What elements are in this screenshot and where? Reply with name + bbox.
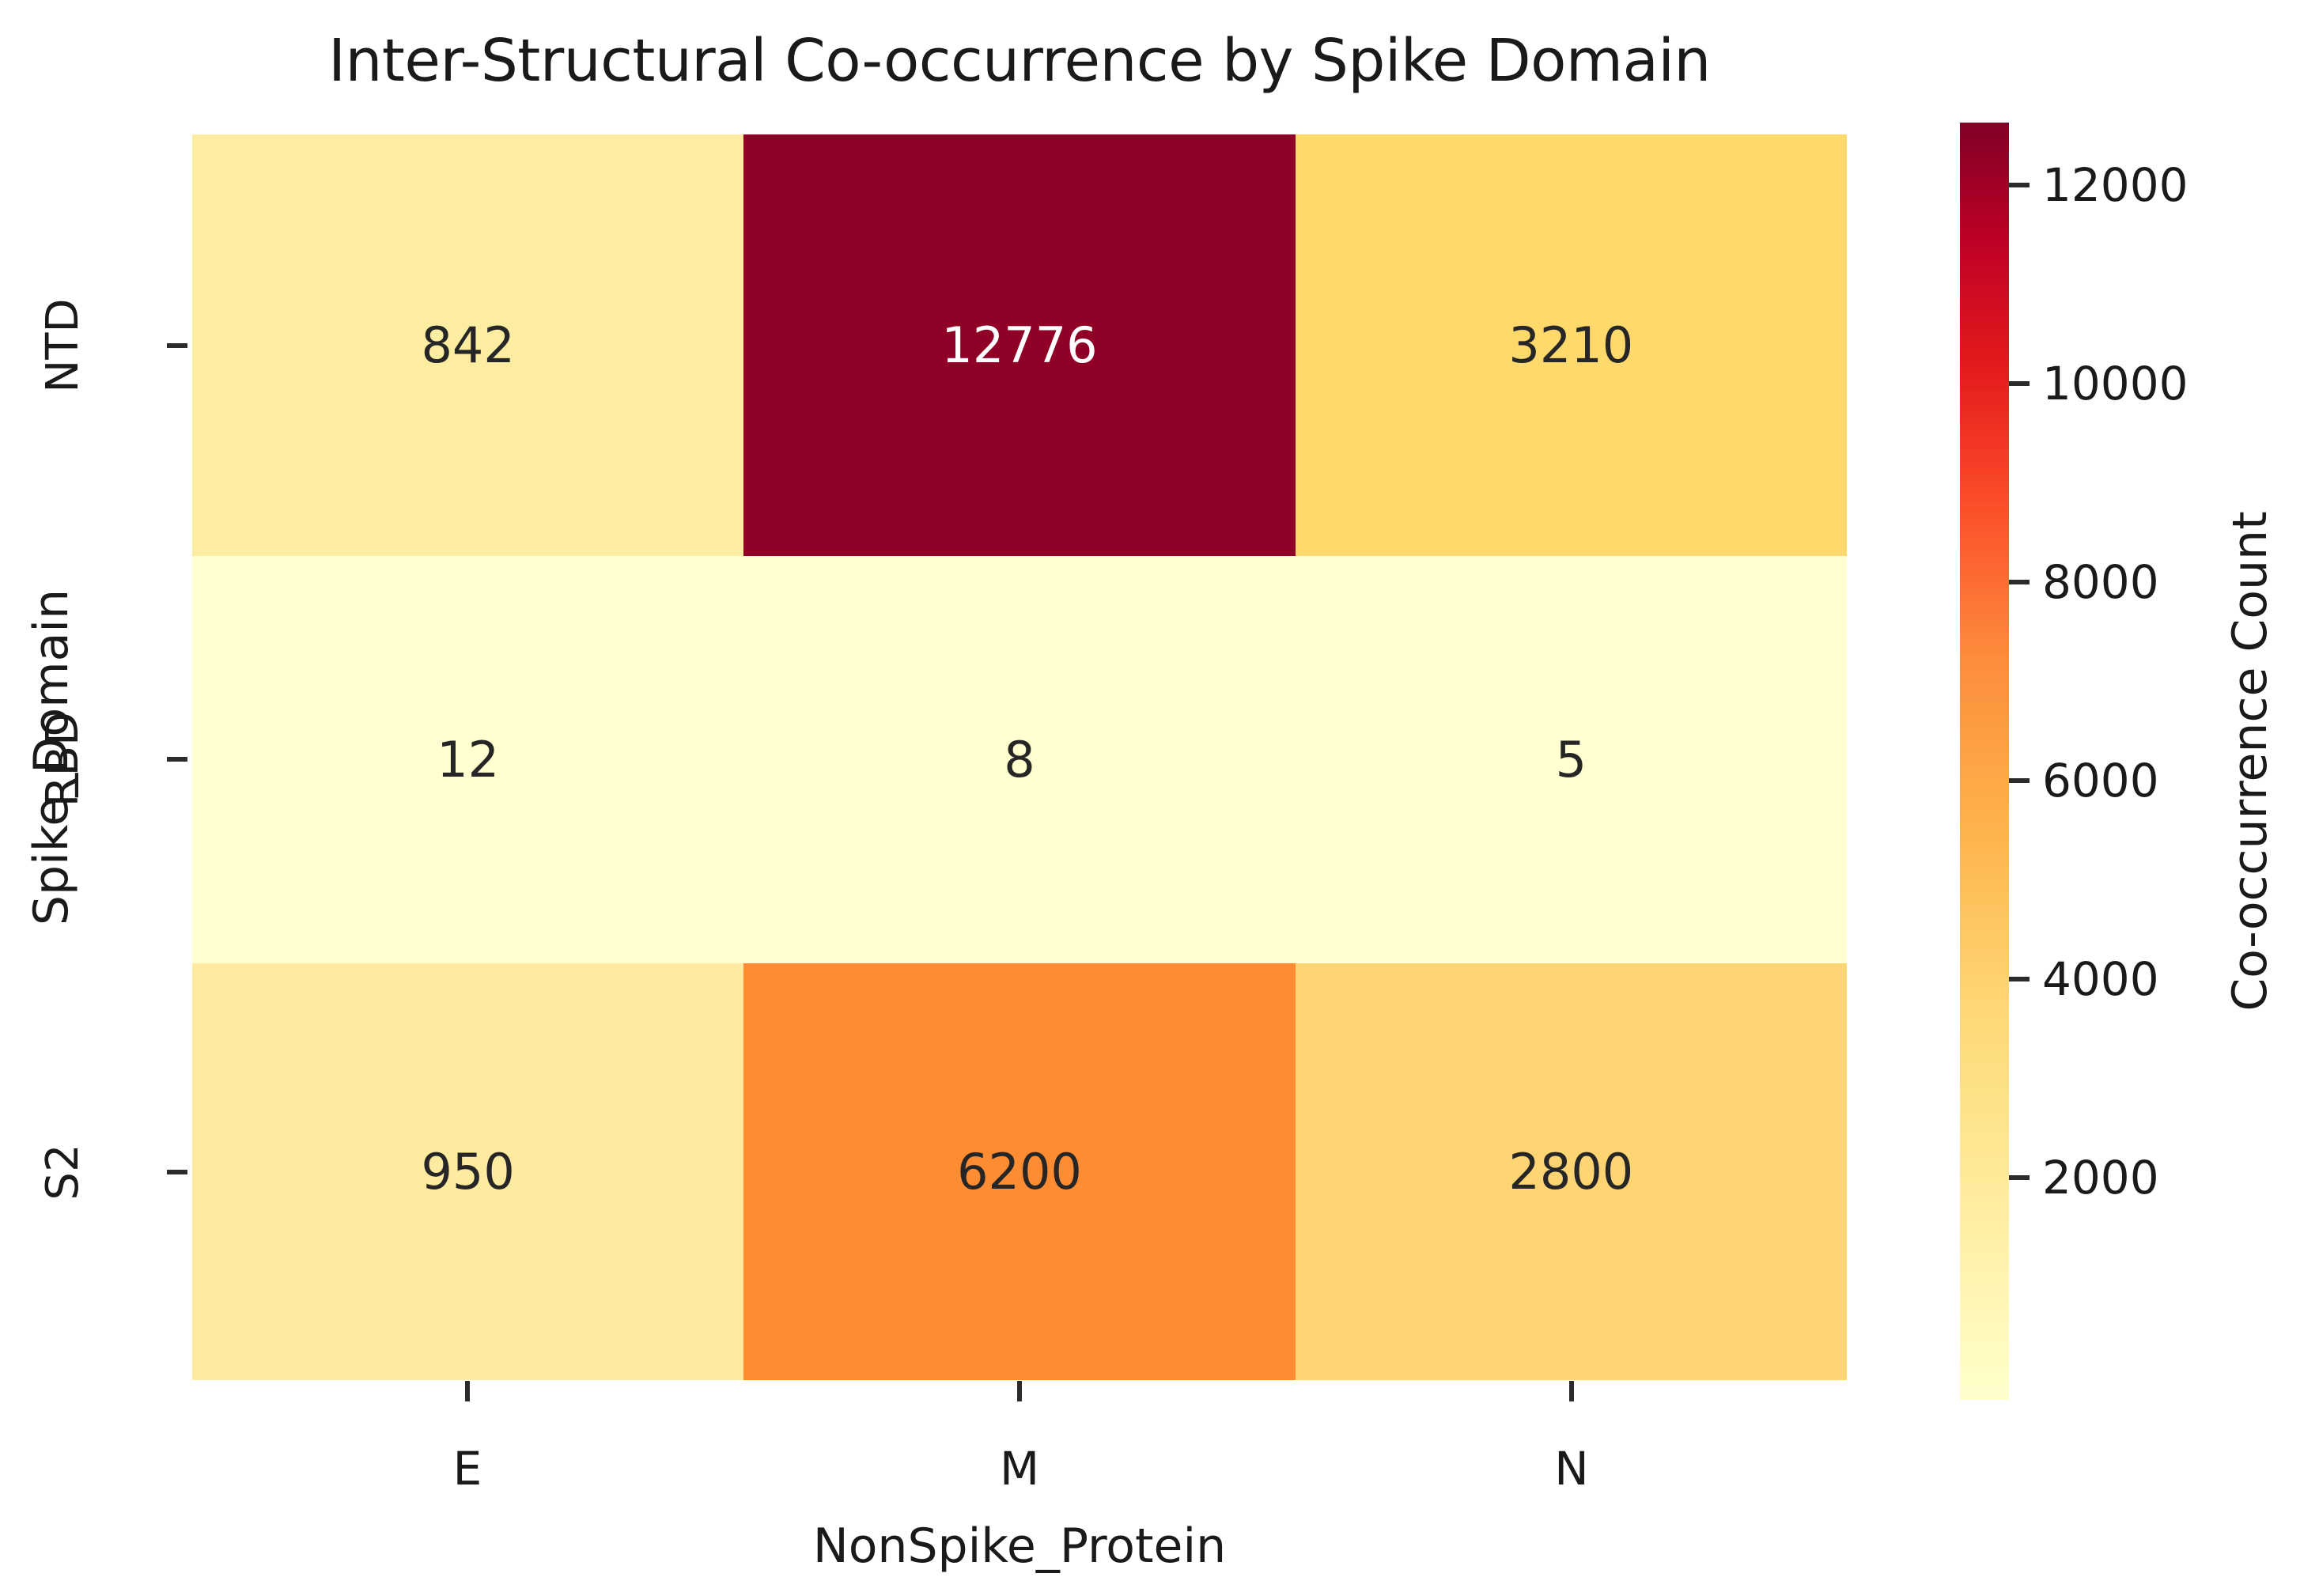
colorbar-tick-label-10000: 10000 (2042, 357, 2188, 410)
x-tick-mark-n (1569, 1381, 1574, 1401)
colorbar-tick-label-4000: 4000 (2042, 952, 2159, 1006)
cell-value: 8 (1004, 736, 1035, 785)
heatmap-cell-rbd-n[interactable]: 5 (1296, 556, 1847, 963)
heatmap-cell-ntd-n[interactable]: 3210 (1296, 134, 1847, 556)
y-tick-label-s2: S2 (37, 1053, 81, 1291)
heatmap-cell-ntd-e[interactable]: 842 (192, 134, 743, 556)
cell-value: 6200 (957, 1148, 1082, 1197)
heatmap-cell-ntd-m[interactable]: 12776 (743, 134, 1295, 556)
heatmap-cell-s2-n[interactable]: 2800 (1296, 963, 1847, 1380)
colorbar-tick-mark-2000 (2009, 1175, 2030, 1180)
x-tick-mark-m (1017, 1381, 1022, 1401)
colorbar-tick-label-6000: 6000 (2042, 754, 2159, 807)
cell-value: 12 (437, 736, 499, 785)
heatmap-grid: 842 12776 3210 12 8 5 950 6200 2800 (192, 134, 1847, 1380)
heatmap-cell-s2-m[interactable]: 6200 (743, 963, 1295, 1380)
x-axis-label: NonSpike_Protein (192, 1518, 1847, 1574)
y-tick-label-ntd: NTD (37, 227, 81, 464)
colorbar[interactable]: 12000 10000 8000 6000 4000 2000 (1960, 123, 2009, 1400)
colorbar-tick-label-12000: 12000 (2042, 158, 2188, 212)
colorbar-tick-label-8000: 8000 (2042, 555, 2159, 609)
colorbar-tick-mark-12000 (2009, 183, 2030, 187)
colorbar-label: Co-occurrence Count (2223, 123, 2275, 1400)
cell-value: 950 (421, 1148, 514, 1197)
chart-title: Inter-Structural Co-occurrence by Spike … (192, 27, 1847, 95)
colorbar-tick-mark-8000 (2009, 580, 2030, 584)
x-tick-mark-e (465, 1381, 470, 1401)
cell-value: 12776 (941, 321, 1097, 370)
cell-value: 5 (1556, 736, 1587, 785)
heatmap-cell-s2-e[interactable]: 950 (192, 963, 743, 1380)
colorbar-tick-mark-6000 (2009, 778, 2030, 783)
y-tick-mark-s2 (167, 1170, 187, 1174)
cell-value: 2800 (1508, 1148, 1633, 1197)
y-tick-mark-ntd (167, 343, 187, 348)
colorbar-tick-mark-4000 (2009, 977, 2030, 981)
heatmap-cell-rbd-e[interactable]: 12 (192, 556, 743, 963)
x-tick-label-e: E (349, 1442, 586, 1496)
heatmap-figure: Inter-Structural Co-occurrence by Spike … (0, 0, 2319, 1596)
heatmap-cell-rbd-m[interactable]: 8 (743, 556, 1295, 963)
colorbar-tick-mark-10000 (2009, 381, 2030, 386)
x-tick-label-m: M (901, 1442, 1138, 1496)
y-tick-mark-rbd (167, 757, 187, 762)
cell-value: 3210 (1508, 321, 1633, 370)
y-tick-label-rbd: RBD (37, 641, 81, 878)
colorbar-tick-label-2000: 2000 (2042, 1151, 2159, 1205)
colorbar-gradient (1960, 123, 2009, 1400)
cell-value: 842 (421, 321, 514, 370)
x-tick-label-n: N (1453, 1442, 1690, 1496)
